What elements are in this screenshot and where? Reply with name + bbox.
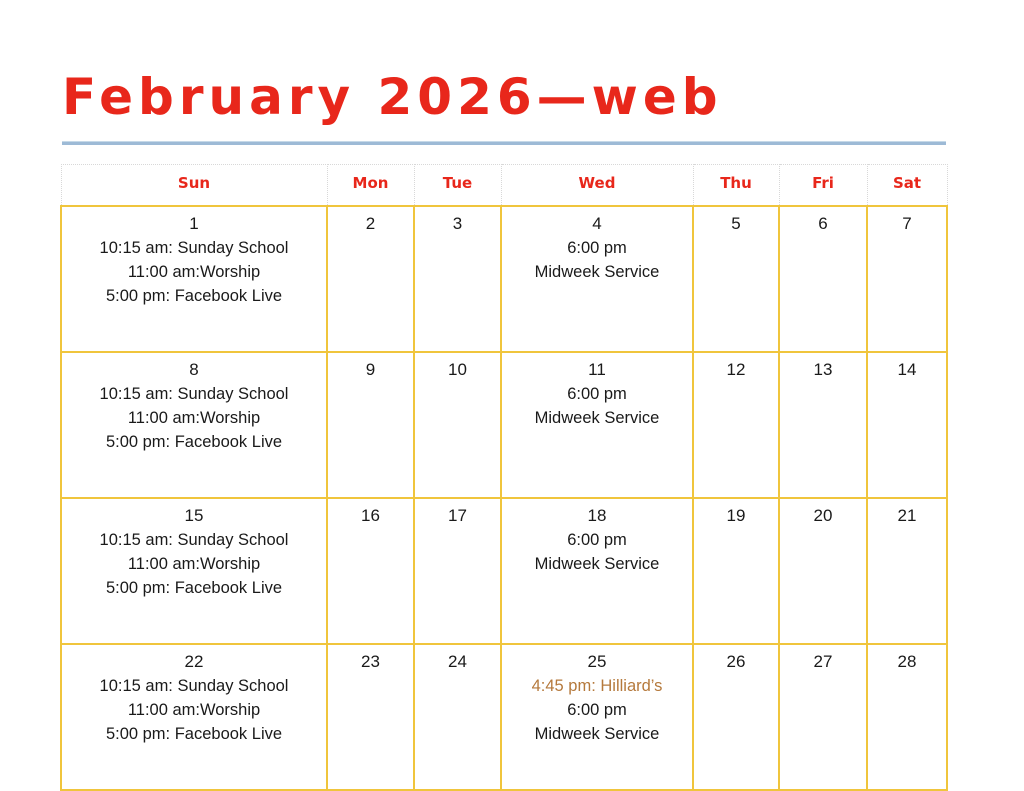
day-number: 16 — [332, 505, 409, 527]
day-number: 6 — [784, 213, 862, 235]
event-text: 10:15 am: Sunday School — [66, 674, 322, 698]
day-number: 7 — [872, 213, 942, 235]
day-number: 10 — [419, 359, 496, 381]
calendar-header-row: SunMonTueWedThuFriSat — [61, 165, 947, 207]
calendar-table: SunMonTueWedThuFriSat 110:15 am: Sunday … — [60, 164, 948, 791]
day-header-mon: Mon — [327, 165, 414, 207]
event-text: 10:15 am: Sunday School — [66, 382, 322, 406]
event-text: 6:00 pm — [506, 698, 688, 722]
day-number: 24 — [419, 651, 496, 673]
event-text: 4:45 pm: Hilliard’s — [506, 674, 688, 698]
title-block: February 2026—web — [62, 66, 946, 128]
calendar-day-cell[interactable]: 14 — [867, 352, 947, 498]
event-text: Midweek Service — [506, 260, 688, 284]
day-events: 10:15 am: Sunday School11:00 am:Worship5… — [66, 382, 322, 454]
calendar-day-cell[interactable]: 6 — [779, 206, 867, 352]
day-header-sun: Sun — [61, 165, 327, 207]
day-number: 27 — [784, 651, 862, 673]
day-number: 25 — [506, 651, 688, 673]
day-number: 4 — [506, 213, 688, 235]
event-text: 6:00 pm — [506, 382, 688, 406]
event-text: 6:00 pm — [506, 528, 688, 552]
day-number: 9 — [332, 359, 409, 381]
calendar-day-cell[interactable]: 2210:15 am: Sunday School11:00 am:Worshi… — [61, 644, 327, 790]
event-text: 11:00 am:Worship — [66, 698, 322, 722]
day-events: 10:15 am: Sunday School11:00 am:Worship5… — [66, 528, 322, 600]
calendar-day-cell[interactable]: 254:45 pm: Hilliard’s6:00 pmMidweek Serv… — [501, 644, 693, 790]
calendar-day-cell[interactable]: 3 — [414, 206, 501, 352]
calendar-day-cell[interactable]: 110:15 am: Sunday School11:00 am:Worship… — [61, 206, 327, 352]
calendar-day-cell[interactable]: 2 — [327, 206, 414, 352]
day-number: 8 — [66, 359, 322, 381]
calendar-day-cell[interactable]: 16 — [327, 498, 414, 644]
day-number: 12 — [698, 359, 774, 381]
day-events: 6:00 pmMidweek Service — [506, 382, 688, 430]
day-events: 10:15 am: Sunday School11:00 am:Worship5… — [66, 674, 322, 746]
day-header-fri: Fri — [779, 165, 867, 207]
day-number: 2 — [332, 213, 409, 235]
day-number: 23 — [332, 651, 409, 673]
event-text: 11:00 am:Worship — [66, 406, 322, 430]
event-text: Midweek Service — [506, 406, 688, 430]
day-number: 1 — [66, 213, 322, 235]
day-header-sat: Sat — [867, 165, 947, 207]
day-number: 13 — [784, 359, 862, 381]
event-text: 10:15 am: Sunday School — [66, 528, 322, 552]
day-number: 15 — [66, 505, 322, 527]
day-events: 6:00 pmMidweek Service — [506, 528, 688, 576]
day-number: 28 — [872, 651, 942, 673]
day-header-tue: Tue — [414, 165, 501, 207]
day-events: 10:15 am: Sunday School11:00 am:Worship5… — [66, 236, 322, 308]
page-title: February 2026—web — [62, 66, 946, 128]
event-text: Midweek Service — [506, 552, 688, 576]
calendar-day-cell[interactable]: 17 — [414, 498, 501, 644]
calendar-week-row: 110:15 am: Sunday School11:00 am:Worship… — [61, 206, 947, 352]
calendar-week-row: 2210:15 am: Sunday School11:00 am:Worshi… — [61, 644, 947, 790]
day-number: 26 — [698, 651, 774, 673]
calendar-day-cell[interactable]: 24 — [414, 644, 501, 790]
event-text: 11:00 am:Worship — [66, 552, 322, 576]
calendar-page: February 2026—web SunMonTueWedThuFriSat … — [0, 0, 1024, 791]
calendar-day-cell[interactable]: 810:15 am: Sunday School11:00 am:Worship… — [61, 352, 327, 498]
calendar-day-cell[interactable]: 13 — [779, 352, 867, 498]
event-text: Midweek Service — [506, 722, 688, 746]
event-text: 10:15 am: Sunday School — [66, 236, 322, 260]
day-events: 4:45 pm: Hilliard’s6:00 pmMidweek Servic… — [506, 674, 688, 746]
day-header-wed: Wed — [501, 165, 693, 207]
day-number: 11 — [506, 359, 688, 381]
calendar-body: 110:15 am: Sunday School11:00 am:Worship… — [61, 206, 947, 790]
event-text: 11:00 am:Worship — [66, 260, 322, 284]
day-number: 22 — [66, 651, 322, 673]
calendar-day-cell[interactable]: 5 — [693, 206, 779, 352]
event-text: 5:00 pm: Facebook Live — [66, 576, 322, 600]
calendar-week-row: 1510:15 am: Sunday School11:00 am:Worshi… — [61, 498, 947, 644]
event-text: 6:00 pm — [506, 236, 688, 260]
calendar-day-cell[interactable]: 28 — [867, 644, 947, 790]
title-underline-rule — [62, 141, 946, 145]
calendar-day-cell[interactable]: 10 — [414, 352, 501, 498]
day-number: 14 — [872, 359, 942, 381]
day-number: 21 — [872, 505, 942, 527]
day-number: 5 — [698, 213, 774, 235]
day-events: 6:00 pmMidweek Service — [506, 236, 688, 284]
calendar-day-cell[interactable]: 19 — [693, 498, 779, 644]
event-text: 5:00 pm: Facebook Live — [66, 430, 322, 454]
day-number: 20 — [784, 505, 862, 527]
calendar-day-cell[interactable]: 7 — [867, 206, 947, 352]
calendar-day-cell[interactable]: 186:00 pmMidweek Service — [501, 498, 693, 644]
calendar-day-cell[interactable]: 26 — [693, 644, 779, 790]
calendar-day-cell[interactable]: 116:00 pmMidweek Service — [501, 352, 693, 498]
calendar-day-cell[interactable]: 46:00 pmMidweek Service — [501, 206, 693, 352]
calendar-day-cell[interactable]: 23 — [327, 644, 414, 790]
event-text: 5:00 pm: Facebook Live — [66, 722, 322, 746]
day-number: 19 — [698, 505, 774, 527]
calendar-day-cell[interactable]: 1510:15 am: Sunday School11:00 am:Worshi… — [61, 498, 327, 644]
day-number: 18 — [506, 505, 688, 527]
event-text: 5:00 pm: Facebook Live — [66, 284, 322, 308]
calendar-day-cell[interactable]: 12 — [693, 352, 779, 498]
calendar-day-cell[interactable]: 9 — [327, 352, 414, 498]
day-header-thu: Thu — [693, 165, 779, 207]
calendar-day-cell[interactable]: 27 — [779, 644, 867, 790]
day-number: 3 — [419, 213, 496, 235]
day-number: 17 — [419, 505, 496, 527]
calendar-day-cell[interactable]: 20 — [779, 498, 867, 644]
calendar-week-row: 810:15 am: Sunday School11:00 am:Worship… — [61, 352, 947, 498]
calendar-day-cell[interactable]: 21 — [867, 498, 947, 644]
